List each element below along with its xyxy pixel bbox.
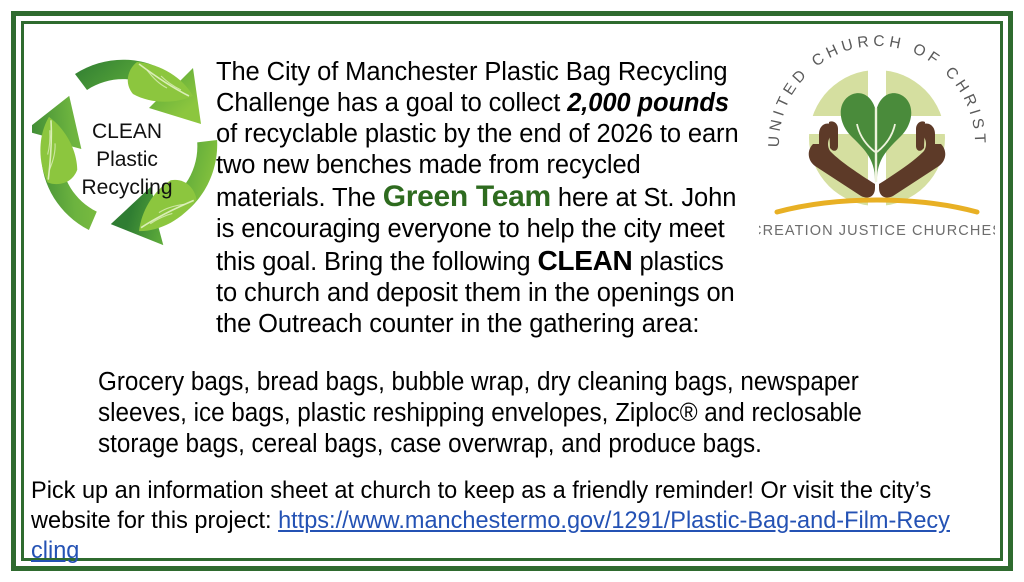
headline-emphasis-green-team: Green Team	[383, 180, 551, 213]
headline-paragraph: The City of Manchester Plastic Bag Recyc…	[216, 57, 741, 340]
ucc-bottom-text: CREATION JUSTICE CHURCHES	[759, 223, 995, 239]
top-section: CLEAN Plastic Recycling The City of Manc…	[26, 26, 998, 306]
united-church-of-christ-creation-justice-logo: UNITED CHURCH OF CHRIST CREATION JUSTICE…	[759, 26, 995, 241]
plastics-list-paragraph: Grocery bags, bread bags, bubble wrap, d…	[98, 367, 887, 460]
recycle-logo-line3: Recycling	[81, 176, 172, 199]
recycle-logo-line2: Plastic	[96, 148, 158, 171]
footer-paragraph: Pick up an information sheet at church t…	[31, 476, 953, 566]
clean-plastic-recycling-logo: CLEAN Plastic Recycling	[32, 30, 222, 265]
headline-emphasis-clean: CLEAN	[538, 245, 633, 276]
headline-emphasis-pounds: 2,000 pounds	[567, 89, 729, 117]
recycling-flyer: CLEAN Plastic Recycling The City of Manc…	[0, 0, 1024, 582]
flyer-content: CLEAN Plastic Recycling The City of Manc…	[26, 26, 998, 556]
recycle-logo-line1: CLEAN	[92, 120, 162, 143]
